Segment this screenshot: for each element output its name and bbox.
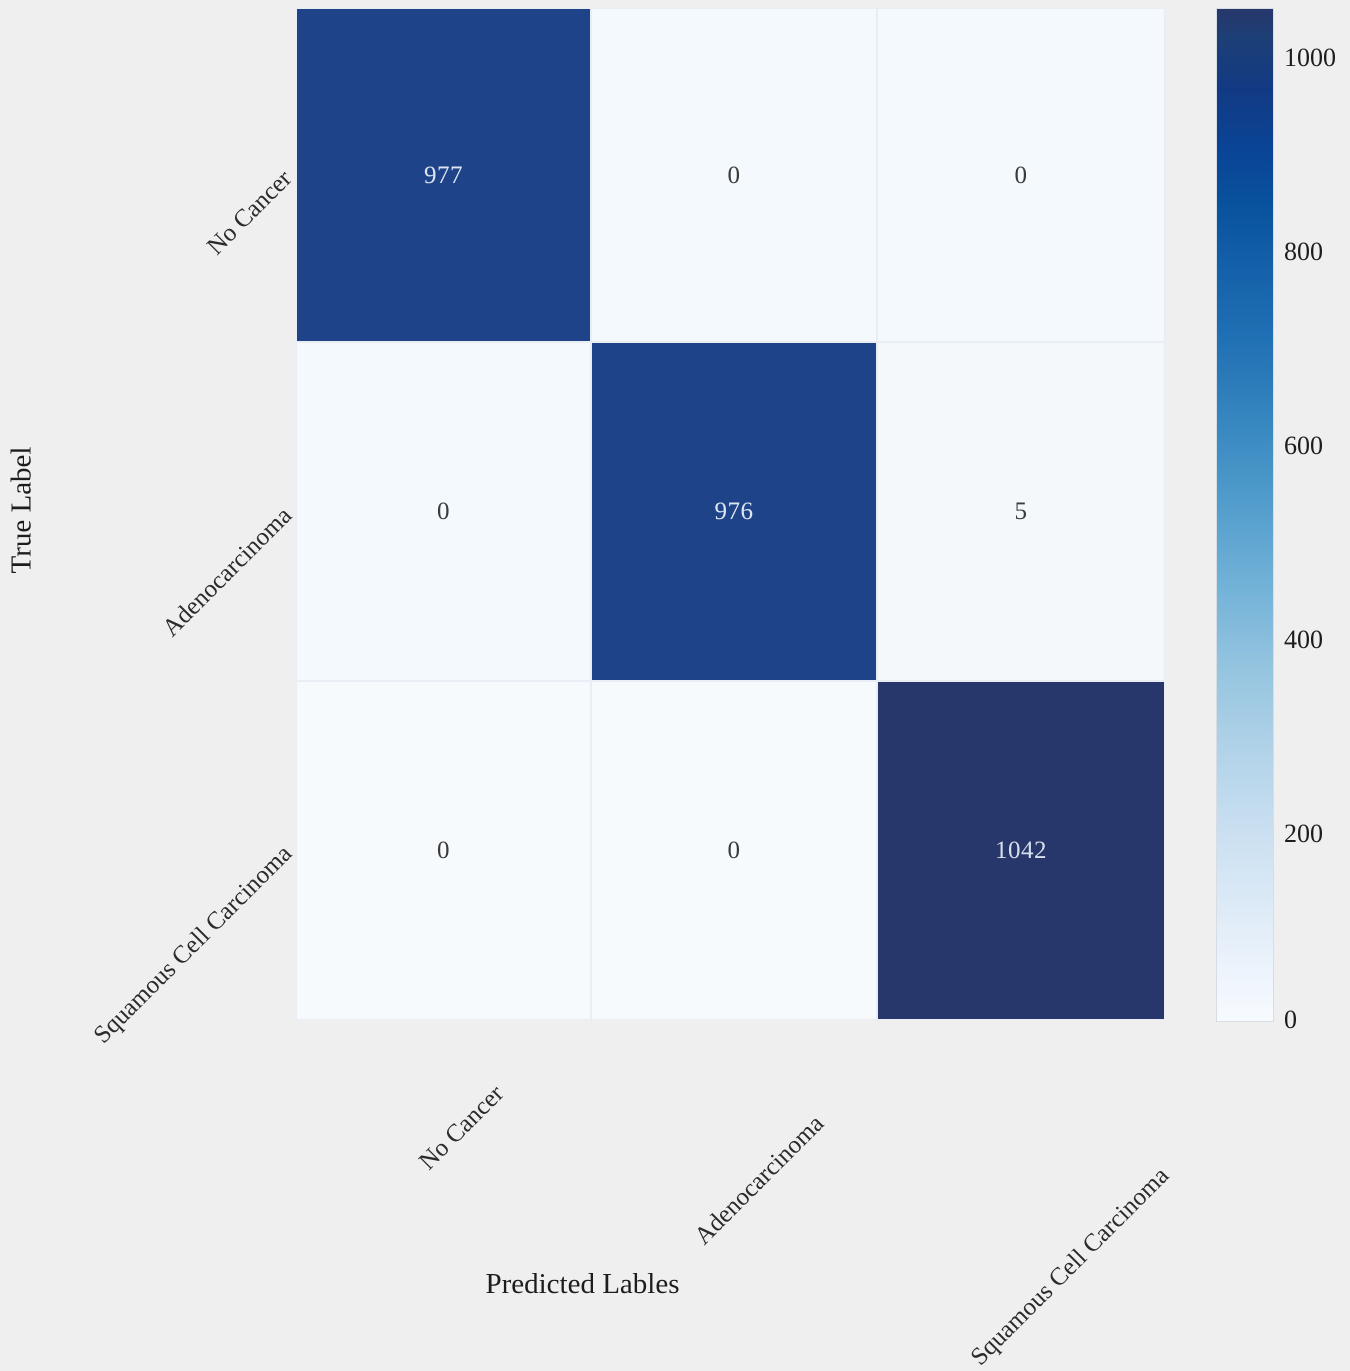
- heatmap-cell-0-2[interactable]: 0: [877, 8, 1165, 342]
- heatmap-cell-1-0[interactable]: 0: [296, 342, 591, 681]
- cell-value: 0: [728, 163, 741, 188]
- heatmap-cell-2-0[interactable]: 0: [296, 681, 591, 1020]
- y-tick-label-0: No Cancer: [202, 165, 298, 261]
- heatmap-cell-2-2[interactable]: 1042: [877, 681, 1165, 1020]
- heatmap-cell-2-1[interactable]: 0: [591, 681, 877, 1020]
- colorbar-tick-1000: 1000: [1284, 43, 1336, 73]
- x-axis-title: Predicted Lables: [0, 1268, 1165, 1301]
- cell-value: 0: [728, 838, 741, 863]
- colorbar-tick-200: 200: [1284, 819, 1323, 849]
- heatmap-cell-0-0[interactable]: 977: [296, 8, 591, 342]
- colorbar-gradient: [1216, 8, 1274, 1022]
- cell-value: 5: [1015, 499, 1028, 524]
- x-tick-label-2: Squamous Cell Carcinoma: [966, 1162, 1175, 1371]
- colorbar-tick-0: 0: [1284, 1005, 1297, 1035]
- cell-value: 0: [437, 499, 450, 524]
- y-axis-title: True Label: [6, 447, 39, 574]
- cell-value: 977: [424, 163, 463, 188]
- heatmap-cell-1-2[interactable]: 5: [877, 342, 1165, 681]
- colorbar-tick-800: 800: [1284, 237, 1323, 267]
- confusion-matrix-figure: True Label No Cancer Adenocarcinoma Squa…: [0, 0, 1350, 1319]
- heatmap-grid: 977 0 0 0 976 5 0 0 1042: [296, 8, 1165, 1020]
- heatmap-cell-0-1[interactable]: 0: [591, 8, 877, 342]
- heatmap-cell-1-1[interactable]: 976: [591, 342, 877, 681]
- x-tick-label-0: No Cancer: [414, 1080, 510, 1176]
- colorbar[interactable]: 1000 800 600 400 200 0: [1216, 8, 1274, 1022]
- cell-value: 0: [1015, 163, 1028, 188]
- cell-value: 1042: [995, 838, 1047, 863]
- colorbar-tick-600: 600: [1284, 431, 1323, 461]
- cell-value: 0: [437, 838, 450, 863]
- cell-value: 976: [715, 499, 754, 524]
- y-tick-label-1: Adenocarcinoma: [157, 502, 298, 643]
- colorbar-tick-400: 400: [1284, 625, 1323, 655]
- y-tick-label-2: Squamous Cell Carcinoma: [89, 840, 298, 1049]
- x-tick-label-1: Adenocarcinoma: [689, 1110, 830, 1251]
